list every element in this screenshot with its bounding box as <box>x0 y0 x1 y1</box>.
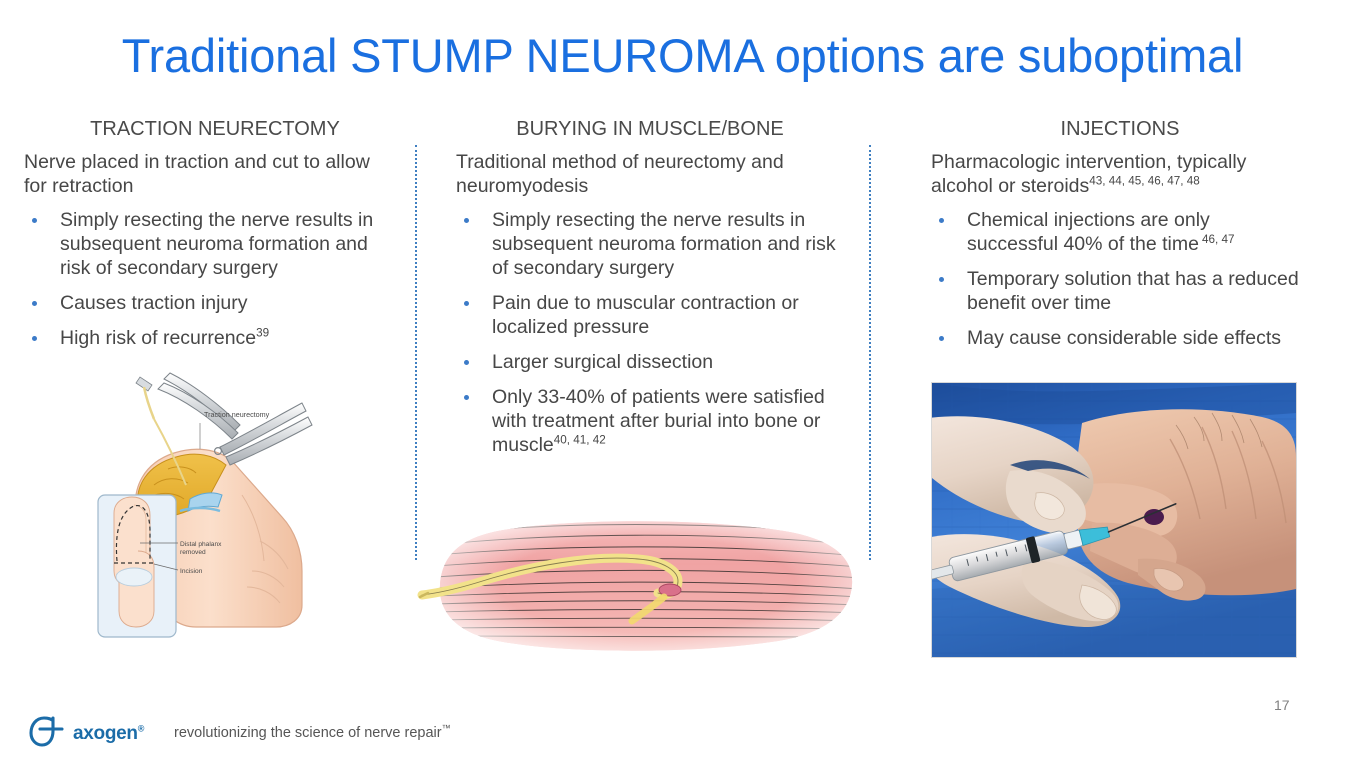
bullet-superscript: 46, 47 <box>1202 233 1235 246</box>
figure-nerve-buried-in-muscle <box>412 515 864 660</box>
bullet-text: Simply resecting the nerve results in su… <box>492 209 836 279</box>
column-divider-left <box>415 145 417 560</box>
bullet-list: Simply resecting the nerve results in su… <box>24 208 394 350</box>
diagram-label-distal-phalanx-removed-line1: Distal phalanx <box>180 541 222 548</box>
bullet-superscript: 40, 41, 42 <box>554 434 606 447</box>
trademark-mark: ™ <box>442 723 451 733</box>
list-item: Only 33-40% of patients were satisfied w… <box>456 385 846 457</box>
list-item: Simply resecting the nerve results in su… <box>24 208 394 280</box>
figure-injection-photo <box>931 382 1297 658</box>
photo-frame <box>931 382 1297 658</box>
diagram-label-traction-neurectomy: Traction neurectomy <box>204 410 270 419</box>
bullet-superscript: 39 <box>256 327 269 340</box>
bullet-text: High risk of recurrence <box>60 327 256 349</box>
registered-mark: ® <box>138 723 144 733</box>
bullet-list: Simply resecting the nerve results in su… <box>456 208 846 457</box>
list-item: Larger surgical dissection <box>456 350 846 374</box>
column-header-traction-neurectomy: TRACTION NEURECTOMY <box>25 116 405 142</box>
logo-text: axogen <box>73 723 138 744</box>
footer-tagline: revolutionizing the science of nerve rep… <box>174 723 451 741</box>
list-item: High risk of recurrence39 <box>24 326 394 350</box>
diagram-label-incision: Incision <box>180 568 203 575</box>
bullet-text: Pain due to muscular contraction or loca… <box>492 292 799 338</box>
column-lead-text: Pharmacologic intervention, typically al… <box>931 150 1301 198</box>
column-injections: Pharmacologic intervention, typically al… <box>931 150 1301 361</box>
bullet-text: Simply resecting the nerve results in su… <box>60 209 373 279</box>
lead-superscript: 43, 44, 45, 46, 47, 48 <box>1089 175 1199 188</box>
bullet-text: Temporary solution that has a reduced be… <box>967 268 1299 314</box>
column-traction-neurectomy: Nerve placed in traction and cut to allo… <box>24 150 394 361</box>
lead-body: Traditional method of neurectomy and neu… <box>456 151 784 197</box>
bullet-text: Chemical injections are only successful … <box>967 209 1210 255</box>
page-title: Traditional STUMP NEUROMA options are su… <box>0 26 1365 86</box>
axogen-wordmark: axogen® <box>73 723 144 745</box>
page-number: 17 <box>1274 697 1290 713</box>
diagram-label-distal-phalanx-removed-line2: removed <box>180 549 206 556</box>
figure-traction-neurectomy-diagram: Traction neurectomy Distal phalanx remov… <box>92 365 342 645</box>
lead-body: Nerve placed in traction and cut to allo… <box>24 151 370 197</box>
skin-marking-dot <box>1144 509 1164 525</box>
column-lead-text: Traditional method of neurectomy and neu… <box>456 150 846 198</box>
tagline-text: revolutionizing the science of nerve rep… <box>174 725 442 741</box>
column-header-burying-in-muscle-bone: BURYING IN MUSCLE/BONE <box>425 116 875 142</box>
list-item: Temporary solution that has a reduced be… <box>931 267 1301 315</box>
list-item: Chemical injections are only successful … <box>931 208 1301 256</box>
list-item: Pain due to muscular contraction or loca… <box>456 291 846 339</box>
bullet-text: Causes traction injury <box>60 292 248 314</box>
list-item: Causes traction injury <box>24 291 394 315</box>
column-burying-in-muscle-bone: Traditional method of neurectomy and neu… <box>456 150 846 468</box>
bullet-text: May cause considerable side effects <box>967 327 1281 349</box>
bullet-list: Chemical injections are only successful … <box>931 208 1301 350</box>
list-item: May cause considerable side effects <box>931 326 1301 350</box>
axogen-alpha-mark-icon <box>28 714 66 753</box>
list-item: Simply resecting the nerve results in su… <box>456 208 846 280</box>
bullet-text: Larger surgical dissection <box>492 351 713 373</box>
footer-logo: axogen® <box>28 714 144 753</box>
bullet-text: Only 33-40% of patients were satisfied w… <box>492 386 825 456</box>
column-header-injections: INJECTIONS <box>900 116 1340 142</box>
column-lead-text: Nerve placed in traction and cut to allo… <box>24 150 394 198</box>
column-divider-right <box>869 145 871 560</box>
